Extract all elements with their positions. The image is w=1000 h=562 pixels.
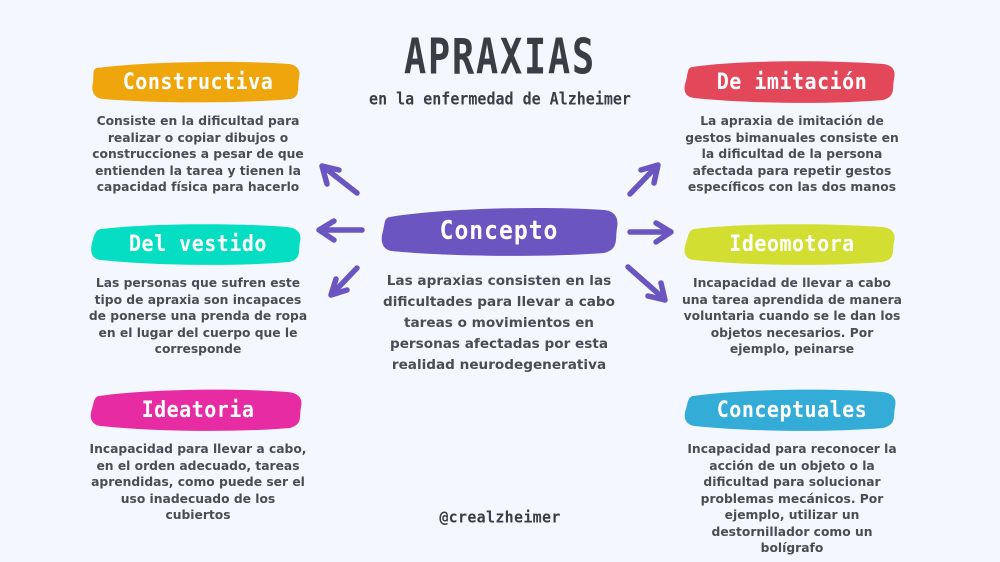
node-label: Constructiva xyxy=(123,68,274,95)
node-label: Ideatoria xyxy=(142,396,255,423)
arrow-down-right xyxy=(628,267,665,300)
node-label: Ideomotora xyxy=(729,230,854,257)
footer-handle: @crealzheimer xyxy=(0,507,1000,526)
node-description: Consiste en la dificultad para realizar … xyxy=(83,113,313,196)
arrow-up-left xyxy=(322,166,357,193)
infographic-canvas: APRAXIAS en la enfermedad de Alzheimer xyxy=(0,0,1000,562)
node-de-imitacion: De imitación La apraxia de imitación de … xyxy=(677,58,907,196)
node-concepto: Concepto Las apraxias consisten en las d… xyxy=(378,205,620,376)
node-label: Conceptuales xyxy=(717,396,868,423)
brush-banner: Ideomotora xyxy=(677,220,907,266)
node-description: La apraxia de imitación de gestos bimanu… xyxy=(677,113,907,196)
node-del-vestido: Del vestido Las personas que sufren este… xyxy=(83,220,313,358)
node-ideatoria: Ideatoria Incapacidad para llevar a cabo… xyxy=(83,386,313,524)
node-description: Las apraxias consisten en las dificultad… xyxy=(378,271,620,376)
node-conceptuales: Conceptuales Incapacidad para reconocer … xyxy=(677,386,907,557)
arrow-left xyxy=(319,221,362,240)
brush-banner: Ideatoria xyxy=(83,386,313,432)
brush-banner: Concepto xyxy=(378,205,620,257)
node-label: Del vestido xyxy=(129,230,267,257)
brush-banner: Del vestido xyxy=(83,220,313,266)
arrow-right xyxy=(630,223,671,242)
brush-banner: De imitación xyxy=(677,58,907,104)
node-description: Incapacidad de llevar a cabo una tarea a… xyxy=(677,275,907,358)
node-label: Concepto xyxy=(440,216,559,245)
node-description: Las personas que sufren este tipo de apr… xyxy=(83,275,313,358)
arrow-down-left xyxy=(331,268,357,295)
node-constructiva: Constructiva Consiste en la dificultad p… xyxy=(83,58,313,196)
node-description: Incapacidad para reconocer la acción de … xyxy=(677,441,907,557)
node-ideomotora: Ideomotora Incapacidad de llevar a cabo … xyxy=(677,220,907,358)
node-label: De imitación xyxy=(717,68,868,95)
brush-banner: Constructiva xyxy=(83,58,313,104)
arrow-up-right xyxy=(630,165,658,194)
brush-banner: Conceptuales xyxy=(677,386,907,432)
